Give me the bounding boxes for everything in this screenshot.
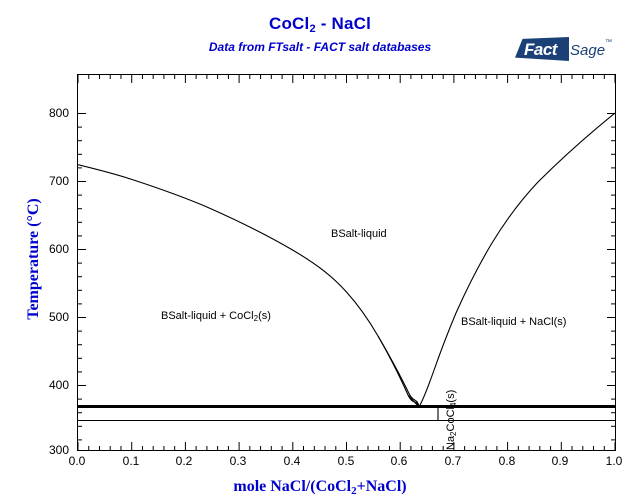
compound-label-sub2: 4 bbox=[449, 403, 458, 407]
region-label-left-subscript: 2 bbox=[254, 314, 258, 323]
compound-label-tail: (s) bbox=[445, 390, 457, 403]
title-tail: - NaCl bbox=[316, 14, 371, 33]
logo-trademark-icon: ™ bbox=[605, 39, 612, 46]
x-tick-label-8: 0.8 bbox=[487, 454, 527, 468]
y-axis-ticks bbox=[78, 114, 86, 440]
x-tick-label-9: 0.9 bbox=[540, 454, 580, 468]
logo-sage-text: Sage bbox=[570, 42, 605, 59]
logo-fact-text: Fact bbox=[524, 40, 557, 60]
x-axis-title-subscript: 2 bbox=[351, 485, 357, 497]
region-label-bsalt-nacl: BSalt-liquid + NaCl(s) bbox=[461, 316, 566, 328]
compound-label-lead: Na bbox=[445, 436, 457, 450]
y-tick-label-500: 500 bbox=[23, 310, 69, 324]
compound-label-mid: CoCl bbox=[445, 407, 457, 431]
x-tick-label-0: 0.0 bbox=[57, 454, 97, 468]
x-tick-label-1: 0.1 bbox=[111, 454, 151, 468]
region-label-na2cocl4: Na2CoCl4(s) bbox=[445, 390, 457, 450]
x-tick-label-3: 0.3 bbox=[218, 454, 258, 468]
x-tick-label-5: 0.5 bbox=[326, 454, 366, 468]
y-tick-label-800: 800 bbox=[23, 106, 69, 120]
x-axis-title-lead: mole NaCl/(CoCl bbox=[233, 478, 351, 495]
region-label-left-tail: (s) bbox=[258, 310, 271, 322]
title-subscript: 2 bbox=[309, 23, 315, 35]
region-label-left-lead: BSalt-liquid + CoCl bbox=[161, 310, 254, 322]
x-axis-ticks-top bbox=[78, 75, 615, 83]
x-tick-label-4: 0.4 bbox=[272, 454, 312, 468]
region-label-bsalt-cocl2: BSalt-liquid + CoCl2(s) bbox=[161, 310, 271, 322]
x-axis-title-tail: +NaCl) bbox=[357, 478, 407, 495]
y-tick-label-600: 600 bbox=[23, 242, 69, 256]
phase-diagram-page: CoCl2 - NaCl Data from FTsalt - FACT sal… bbox=[0, 0, 640, 504]
page-title: CoCl2 - NaCl bbox=[0, 14, 640, 34]
y-tick-label-400: 400 bbox=[23, 378, 69, 392]
x-tick-label-2: 0.2 bbox=[164, 454, 204, 468]
region-label-bsalt-liquid: BSalt-liquid bbox=[331, 228, 387, 240]
y-axis-ticks-right bbox=[607, 114, 615, 440]
cocl2-liquidus-curve bbox=[78, 165, 419, 406]
x-axis-title: mole NaCl/(CoCl2+NaCl) bbox=[0, 478, 640, 496]
factsage-logo: Fact Sage ™ bbox=[504, 36, 616, 66]
x-axis-ticks bbox=[78, 442, 615, 450]
x-tick-label-7: 0.7 bbox=[433, 454, 473, 468]
phase-diagram-svg bbox=[78, 75, 615, 450]
compound-label-sub1: 2 bbox=[449, 431, 458, 435]
cocl2-liquidus-eutectic-leg bbox=[378, 336, 419, 407]
title-main: CoCl bbox=[269, 14, 309, 33]
y-tick-label-700: 700 bbox=[23, 174, 69, 188]
plot-area: BSalt-liquid BSalt-liquid + CoCl2(s) BSa… bbox=[77, 74, 616, 451]
x-tick-label-10: 1.0 bbox=[594, 454, 634, 468]
nacl-liquidus-curve bbox=[419, 113, 615, 407]
x-tick-label-6: 0.6 bbox=[379, 454, 419, 468]
